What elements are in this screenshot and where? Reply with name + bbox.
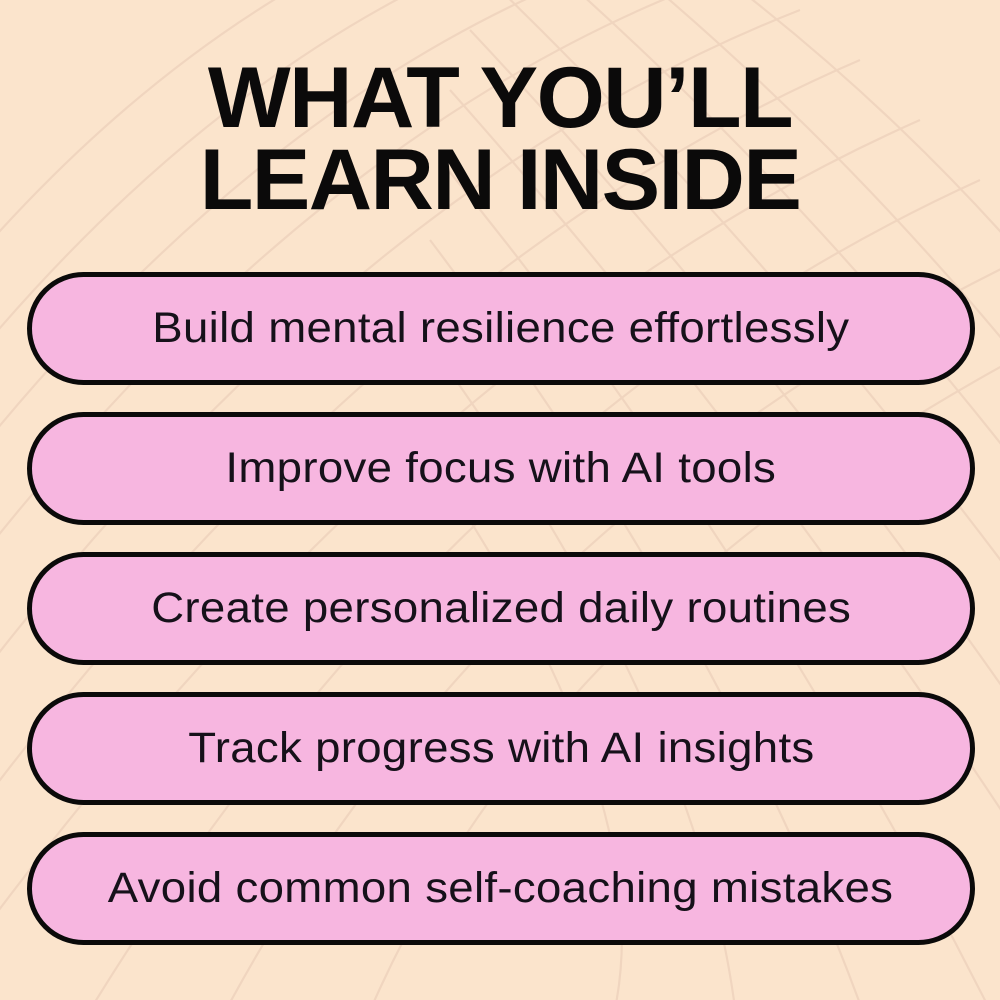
list-item-label: Improve focus with AI tools (226, 444, 777, 493)
list-item-label: Avoid common self-coaching mistakes (108, 864, 893, 913)
list-item[interactable]: Improve focus with AI tools (27, 412, 975, 525)
list-item-label: Build mental resilience effortlessly (152, 304, 849, 353)
list-item[interactable]: Track progress with AI insights (27, 692, 975, 805)
benefits-list: Build mental resilience effortlessly Imp… (27, 272, 975, 945)
page-title: WHAT YOU’LL LEARN INSIDE (0, 58, 1000, 221)
poster-canvas: WHAT YOU’LL LEARN INSIDE Build mental re… (0, 0, 1000, 1000)
list-item[interactable]: Create personalized daily routines (27, 552, 975, 665)
list-item-label: Track progress with AI insights (188, 724, 814, 773)
list-item[interactable]: Build mental resilience effortlessly (27, 272, 975, 385)
list-item[interactable]: Avoid common self-coaching mistakes (27, 832, 975, 945)
title-line-1: WHAT YOU’LL (0, 58, 1000, 140)
title-line-2: LEARN INSIDE (0, 140, 1000, 222)
list-item-label: Create personalized daily routines (151, 584, 851, 633)
